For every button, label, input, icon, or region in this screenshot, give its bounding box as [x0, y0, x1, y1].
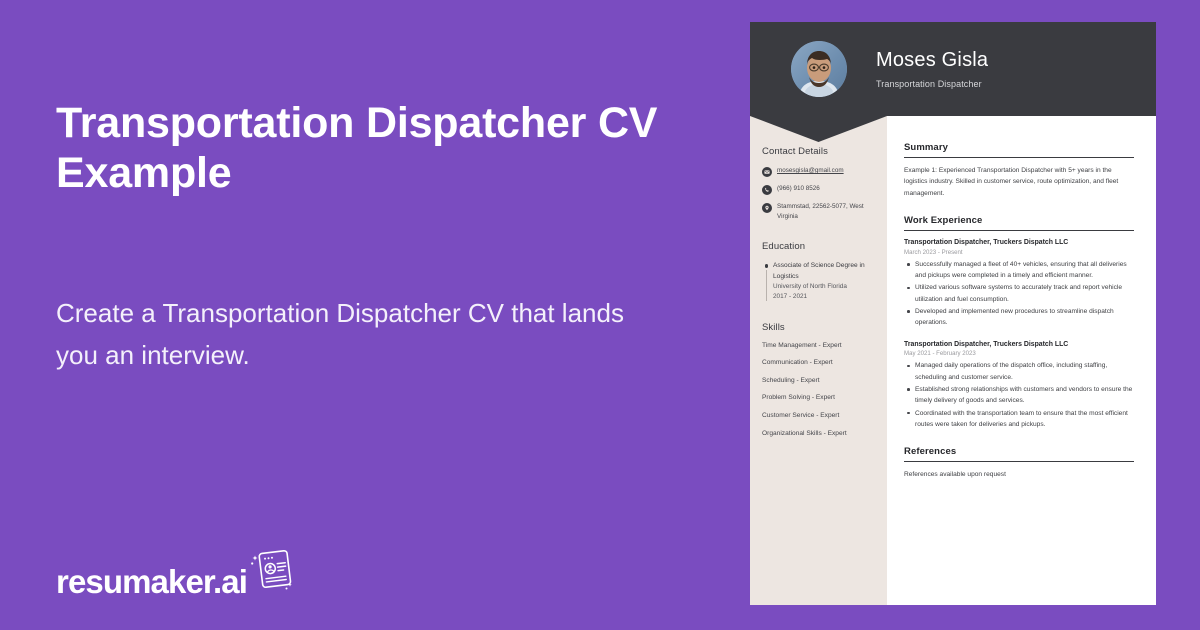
- education-timeline-marker: [762, 261, 771, 302]
- education-dates: 2017 - 2021: [773, 292, 875, 302]
- education-school: University of North Florida: [773, 282, 875, 292]
- skill-item: Problem Solving - Expert: [762, 394, 875, 403]
- cv-name: Moses Gisla: [876, 49, 988, 72]
- education-degree: Associate of Science Degree in Logistics: [773, 261, 875, 282]
- phone-icon: [762, 185, 772, 195]
- education-section: Education Associate of Science Degree in…: [762, 241, 875, 302]
- contact-details-section: Contact Details mosesgisla@gmail.com: [762, 146, 875, 222]
- job-bullet: Established strong relationships with cu…: [904, 384, 1134, 407]
- job-dates: March 2023 - Present: [904, 249, 1134, 256]
- skill-item: Organizational Skills - Expert: [762, 430, 875, 439]
- skills-heading: Skills: [762, 322, 875, 333]
- skills-section: Skills Time Management - Expert Communic…: [762, 322, 875, 438]
- job-entry: Transportation Dispatcher, Truckers Disp…: [904, 340, 1134, 431]
- work-experience-heading: Work Experience: [904, 215, 1134, 231]
- contact-address-text: Stammstad, 22562-5077, West Virginia: [777, 202, 875, 222]
- summary-section: Summary Example 1: Experienced Transport…: [904, 142, 1134, 199]
- job-entry: Transportation Dispatcher, Truckers Disp…: [904, 238, 1134, 329]
- references-section: References References available upon req…: [904, 446, 1134, 480]
- job-dates: May 2021 - February 2023: [904, 350, 1134, 357]
- references-text: References available upon request: [904, 469, 1134, 480]
- job-bullet: Developed and implemented new procedures…: [904, 306, 1134, 329]
- skill-item: Customer Service - Expert: [762, 412, 875, 421]
- contact-details-heading: Contact Details: [762, 146, 875, 157]
- contact-phone-text: (966) 910 8526: [777, 184, 820, 194]
- resume-card-icon: [249, 548, 295, 597]
- job-bullet: Managed daily operations of the dispatch…: [904, 360, 1134, 383]
- contact-item-phone[interactable]: (966) 910 8526: [762, 184, 875, 195]
- job-bullet: Coordinated with the transportation team…: [904, 408, 1134, 431]
- education-heading: Education: [762, 241, 875, 252]
- contact-email-text: mosesgisla@gmail.com: [777, 166, 844, 176]
- page-title: Transportation Dispatcher CV Example: [56, 98, 696, 199]
- contact-item-email[interactable]: mosesgisla@gmail.com: [762, 166, 875, 177]
- skill-item: Scheduling - Expert: [762, 377, 875, 386]
- cv-role: Transportation Dispatcher: [876, 79, 988, 89]
- promo-panel: Transportation Dispatcher CV Example Cre…: [0, 0, 750, 630]
- job-bullet: Utilized various software systems to acc…: [904, 282, 1134, 305]
- cv-sidebar: Contact Details mosesgisla@gmail.com: [750, 116, 887, 605]
- header-chevron-shape: [750, 116, 887, 142]
- summary-text: Example 1: Experienced Transportation Di…: [904, 165, 1134, 199]
- job-title: Transportation Dispatcher, Truckers Disp…: [904, 340, 1134, 350]
- logo-wordmark: resumaker.ai: [56, 565, 247, 598]
- cv-main-column: Summary Example 1: Experienced Transport…: [887, 116, 1156, 605]
- contact-item-address[interactable]: Stammstad, 22562-5077, West Virginia: [762, 202, 875, 222]
- skill-item: Communication - Expert: [762, 359, 875, 368]
- job-bullet: Successfully managed a fleet of 40+ vehi…: [904, 259, 1134, 282]
- references-heading: References: [904, 446, 1134, 462]
- job-title: Transportation Dispatcher, Truckers Disp…: [904, 238, 1134, 248]
- resumaker-logo[interactable]: resumaker.ai: [56, 548, 295, 598]
- avatar: [791, 41, 847, 97]
- bullet-dot-icon: [765, 264, 768, 267]
- cv-header: Moses Gisla Transportation Dispatcher: [750, 22, 1156, 116]
- cv-preview-document[interactable]: Moses Gisla Transportation Dispatcher Co…: [750, 22, 1156, 605]
- timeline-line: [766, 270, 767, 301]
- envelope-icon: [762, 167, 772, 177]
- location-pin-icon: [762, 203, 772, 213]
- summary-heading: Summary: [904, 142, 1134, 158]
- skill-item: Time Management - Expert: [762, 342, 875, 351]
- education-item: Associate of Science Degree in Logistics…: [762, 261, 875, 302]
- promo-subtitle: Create a Transportation Dispatcher CV th…: [56, 292, 656, 376]
- work-experience-section: Work Experience Transportation Dispatche…: [904, 215, 1134, 430]
